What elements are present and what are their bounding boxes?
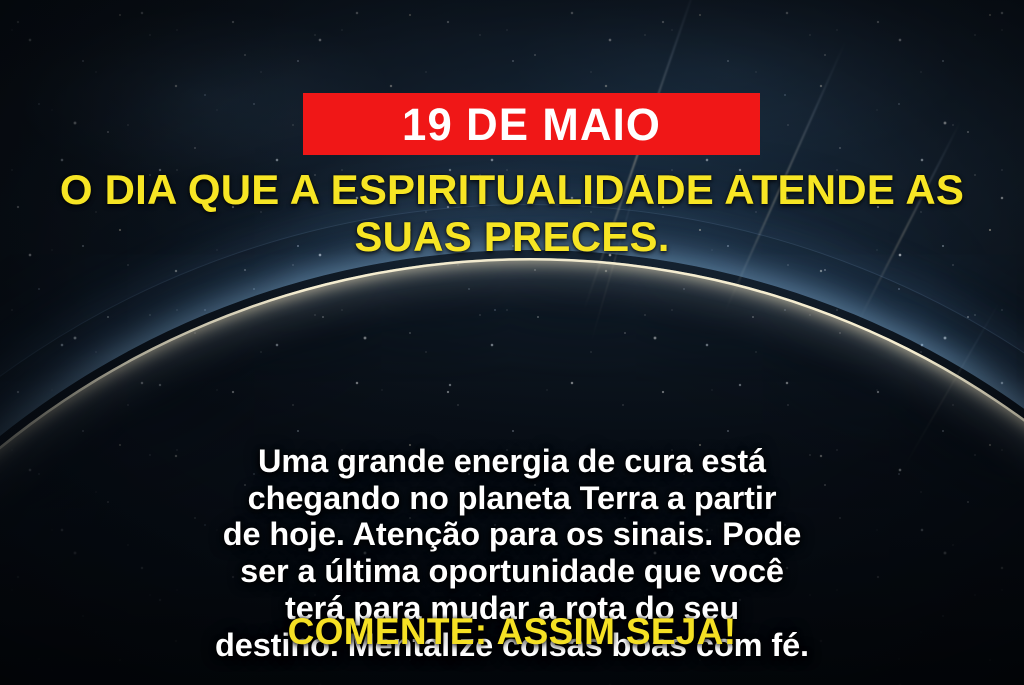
- date-banner: 19 DE MAIO: [303, 93, 760, 155]
- date-banner-text: 19 DE MAIO: [402, 102, 661, 147]
- poster-content: 19 DE MAIO O DIA QUE A ESPIRITUALIDADE A…: [0, 0, 1024, 685]
- headline-text: O DIA QUE A ESPIRITUALIDADE ATENDE AS SU…: [42, 166, 982, 260]
- call-to-action-text: COMENTE: ASSIM SEJA!: [42, 612, 982, 653]
- body-line: de hoje. Atenção para os sinais. Pode: [47, 516, 977, 553]
- body-line: chegando no planeta Terra a partir: [47, 480, 977, 517]
- body-line: ser a última oportunidade que você: [47, 553, 977, 590]
- poster-canvas: 19 DE MAIO O DIA QUE A ESPIRITUALIDADE A…: [0, 0, 1024, 685]
- body-line: Uma grande energia de cura está: [47, 443, 977, 480]
